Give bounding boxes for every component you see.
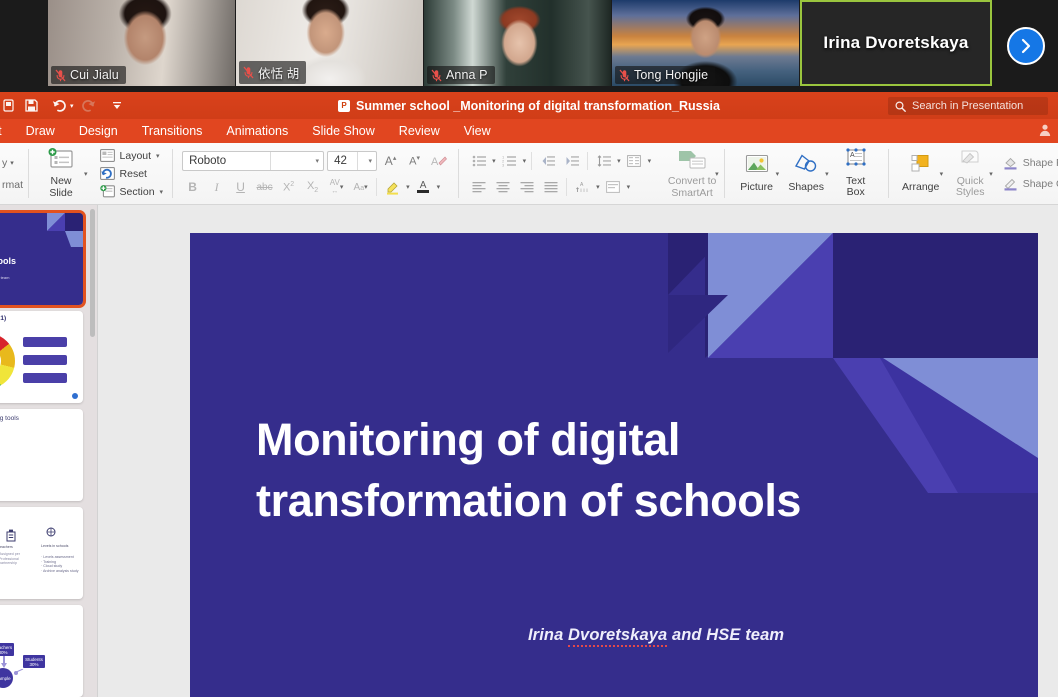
picture-label: Picture (740, 182, 773, 194)
shape-outline-label: Shape Outline (1023, 178, 1058, 190)
pane-divider[interactable] (97, 205, 98, 697)
thumb5-circle-sample: Sample (0, 668, 13, 688)
thumb4-icon-right (45, 527, 57, 540)
format-painter-button[interactable]: rmat (2, 179, 23, 191)
chevron-right-icon (1019, 38, 1033, 54)
subtitle-prefix: Irina (528, 626, 568, 644)
align-center-icon (496, 181, 510, 193)
shape-format-stack: Shape Fill ▾ Shape Outline ▾ (999, 143, 1058, 205)
current-slide[interactable]: Monitoring of digital transformation of … (190, 233, 1038, 697)
svg-text:A: A (580, 182, 584, 188)
character-spacing-button[interactable]: AV↔ ▾ (326, 177, 347, 197)
clipboard-group: y ▾ rmat (0, 143, 23, 204)
smartart-caret-icon[interactable]: ▾ (715, 170, 719, 178)
decrease-font-size-icon: A▾ (409, 154, 420, 168)
increase-indent-icon (565, 155, 579, 167)
participant-name-badge: 依恬 胡 (239, 61, 306, 84)
redo-icon (81, 99, 96, 112)
increase-font-size-button[interactable]: A▴ (380, 151, 401, 171)
insert-group: Picture ▾ Shapes ▾ (730, 143, 883, 204)
slide-thumbnail-3[interactable]: monitoring tools (0, 409, 83, 501)
line-spacing-caret-icon[interactable]: ▾ (617, 157, 621, 165)
copy-button[interactable]: y ▾ (2, 157, 14, 169)
decrease-font-size-button[interactable]: A▾ (404, 151, 425, 171)
tab-transitions[interactable]: Transitions (130, 119, 215, 143)
document-title-text: Summer school _Monitoring of digital tra… (356, 99, 720, 113)
text-direction-button[interactable]: A (572, 177, 593, 197)
new-slide-label-2: Slide (49, 188, 72, 200)
text-box-label-2: Box (847, 187, 865, 199)
autosave-icon[interactable] (0, 94, 16, 118)
svg-text:A: A (850, 152, 855, 159)
muted-microphone-icon (619, 69, 630, 82)
tab-design[interactable]: Design (67, 119, 130, 143)
powerpoint-window: ▾ P Summer school _Monitoring of digi (0, 92, 1058, 697)
shape-fill-label: Shape Fill (1023, 157, 1058, 169)
font-size-value: 42 (334, 155, 347, 167)
picture-icon (744, 154, 770, 179)
thumb2-bar-1 (23, 337, 67, 347)
quick-styles-label-2: Styles (956, 187, 985, 199)
tab-slide-show[interactable]: Slide Show (300, 119, 387, 143)
undo-button[interactable] (46, 94, 72, 118)
slide-thumbnail-pane[interactable]: digital n of schools voretskaya and HSE … (0, 205, 97, 697)
ribbon-separator (888, 149, 889, 198)
video-tile-active-speaker[interactable]: Irina Dvoretskaya (800, 0, 992, 86)
decrease-indent-button[interactable] (537, 151, 558, 171)
copy-caret-icon: ▾ (10, 159, 14, 167)
font-size-combo[interactable]: 42 ▾ (327, 151, 377, 171)
section-caret-icon: ▾ (160, 188, 164, 196)
thumb4-bullets: · Levels assessment· Training· Cloud stu… (41, 555, 79, 573)
video-tile-participant-2[interactable]: 依恬 胡 (236, 0, 423, 86)
thumbnail-title: digital n of schools (0, 245, 16, 266)
font-color-icon: A (417, 181, 429, 193)
arrange-icon (908, 154, 934, 179)
decrease-indent-icon (541, 155, 555, 167)
customize-quick-access-button[interactable] (104, 94, 130, 118)
thumbnail-pane-scrollbar[interactable] (90, 209, 95, 337)
paragraph-group: ▾ 1 2 3 ▾ (464, 143, 655, 205)
justify-icon (544, 181, 558, 193)
search-placeholder: Search in Presentation (912, 100, 1023, 112)
strikethrough-icon: abc (257, 182, 273, 193)
drawing-group: Arrange ▾ Quick Styles ▾ (894, 143, 1058, 204)
columns-icon (627, 155, 641, 167)
strikethrough-button[interactable]: abc (254, 177, 275, 197)
video-tile-participant-4[interactable]: Tong Hongjie (612, 0, 799, 86)
font-size-caret-icon: ▾ (365, 157, 373, 165)
text-highlight-button[interactable] (382, 177, 403, 197)
title-bar: ▾ P Summer school _Monitoring of digi (0, 92, 1058, 119)
convert-to-smartart-icon (677, 148, 707, 174)
align-right-button[interactable] (516, 177, 537, 197)
change-case-caret-icon: ▾ (364, 183, 368, 191)
thumb5-box-teachers: Teachers30% (0, 643, 14, 656)
participant-name-badge: Cui Jialu (51, 66, 126, 84)
tab-animations[interactable]: Animations (214, 119, 300, 143)
shape-fill-button[interactable]: Shape Fill ▾ (1003, 157, 1058, 170)
tab-draw[interactable]: Draw (14, 119, 67, 143)
text-highlight-icon (385, 180, 400, 195)
slide-title-textbox[interactable]: Monitoring of digital transformation of … (256, 409, 896, 531)
arrange-label: Arrange (902, 182, 939, 194)
powerpoint-icon: P (338, 100, 350, 112)
section-label: Section (120, 186, 155, 198)
layout-caret-icon: ▾ (156, 152, 160, 160)
video-tile-participant-1[interactable]: Cui Jialu (48, 0, 235, 86)
muted-microphone-icon (55, 69, 66, 82)
reset-label: Reset (120, 168, 147, 180)
align-left-button[interactable] (468, 177, 489, 197)
subtitle-misspelled-word: Dvoretskaya (568, 626, 667, 647)
thumb2-bar-3 (23, 373, 67, 383)
font-group: Roboto ▾ 42 ▾ A▴ A▾ A (178, 143, 453, 205)
participant-name-text: Cui Jialu (70, 68, 119, 82)
italic-button[interactable]: I (206, 177, 227, 197)
line-spacing-icon (597, 155, 611, 167)
share-button[interactable] (1038, 123, 1052, 142)
underline-button[interactable]: U (230, 177, 251, 197)
save-button[interactable] (18, 94, 44, 118)
undo-icon (52, 99, 67, 112)
superscript-icon: X2 (283, 181, 294, 194)
video-tile-participant-3[interactable]: Anna P (424, 0, 611, 86)
font-color-caret-icon[interactable]: ▾ (437, 183, 441, 191)
bullet-caret-icon[interactable]: ▾ (492, 157, 496, 165)
ribbon-separator (724, 149, 725, 198)
numbered-list-icon: 1 2 3 (502, 155, 516, 167)
thumb4-label-right: Levels in schools (41, 544, 68, 549)
thumb2-donut-chart (0, 333, 15, 389)
tab-insert[interactable]: rt (0, 119, 14, 143)
muted-microphone-icon (431, 69, 442, 82)
mobile-icon (3, 99, 14, 112)
new-slide-icon (47, 148, 75, 174)
align-right-icon (520, 181, 534, 193)
align-left-icon (472, 181, 486, 193)
ribbon-toolbar: y ▾ rmat (0, 143, 1058, 205)
layout-button[interactable]: Layout ▾ (100, 149, 164, 162)
slides-group: New Slide ▾ Layout (34, 143, 167, 204)
participant-name-text: Anna P (446, 68, 488, 82)
participant-name-text: 依恬 胡 (258, 63, 299, 82)
font-name-caret-icon: ▾ (312, 157, 320, 165)
change-case-button[interactable]: Aa ▾ (350, 177, 371, 197)
slide-subtitle-textbox[interactable]: Irina Dvoretskaya and HSE team (528, 626, 784, 645)
editor-workspace: digital n of schools voretskaya and HSE … (0, 205, 1058, 697)
quick-styles-icon (957, 148, 983, 173)
underline-icon: U (236, 180, 245, 194)
muted-microphone-icon (243, 66, 254, 79)
smartart-group: Convert to SmartArt ▾ (659, 143, 719, 204)
shapes-label: Shapes (788, 182, 824, 194)
subtitle-suffix: and HSE team (667, 626, 784, 644)
subscript-button[interactable]: X2 (302, 177, 323, 197)
thumb2-bar-2 (23, 355, 67, 365)
slide-thumbnail-4[interactable]: teachers Assigned perProfessionalpartner… (0, 507, 83, 599)
text-direction-caret-icon[interactable]: ▾ (596, 183, 600, 191)
bold-icon: B (188, 180, 197, 194)
character-spacing-caret-icon: ▾ (340, 183, 344, 191)
font-name-value: Roboto (189, 155, 226, 167)
redo-button[interactable] (76, 94, 102, 118)
font-name-combo[interactable]: Roboto ▾ (182, 151, 324, 171)
slide-thumbnail-5[interactable]: Teachers30% Students30% Sample (0, 605, 83, 697)
ribbon-separator (458, 149, 459, 198)
thumb5-arrow (1, 656, 7, 668)
ribbon-separator (172, 149, 173, 198)
character-spacing-icon: AV↔ (330, 179, 340, 196)
reset-icon (100, 167, 115, 180)
highlight-caret-icon[interactable]: ▾ (406, 183, 410, 191)
thumb5-box-students: Students30% (23, 655, 45, 668)
smartart-label-2: SmartArt (671, 188, 712, 200)
clear-formatting-button[interactable]: A (428, 151, 449, 171)
increase-indent-button[interactable] (561, 151, 582, 171)
shape-outline-icon (1003, 178, 1018, 191)
search-icon (895, 101, 906, 112)
italic-icon: I (215, 180, 219, 195)
clear-formatting-icon: A (431, 154, 447, 168)
new-slide-button[interactable]: New Slide (34, 145, 88, 203)
tab-review[interactable]: Review (387, 119, 452, 143)
numbered-list-button[interactable]: 1 2 3 (499, 151, 520, 171)
subscript-icon: X2 (307, 180, 318, 194)
strip-left-padding (0, 0, 48, 92)
font-row-top: Roboto ▾ 42 ▾ A▴ A▾ A (182, 151, 449, 171)
thumb4-label-left: teachers (0, 545, 13, 550)
align-center-button[interactable] (492, 177, 513, 197)
layout-icon (100, 149, 115, 162)
thumb2-badge (72, 393, 78, 399)
text-box-icon: A (843, 148, 869, 173)
format-painter-label: rmat (2, 179, 23, 191)
shape-fill-icon (1003, 157, 1018, 170)
justify-button[interactable] (540, 177, 561, 197)
overflow-caret-icon (112, 101, 122, 110)
quick-styles-caret-icon[interactable]: ▾ (989, 170, 993, 178)
thumbnail-subtitle: voretskaya and HSE team (0, 275, 9, 280)
tab-view[interactable]: View (452, 119, 503, 143)
slide-editing-area[interactable]: Monitoring of digital transformation of … (97, 205, 1058, 697)
search-input[interactable]: Search in Presentation (888, 97, 1048, 115)
thumb3-heading: monitoring tools (0, 415, 19, 422)
align-text-button[interactable] (603, 177, 624, 197)
text-box-button[interactable]: A Text Box (829, 145, 883, 203)
font-row-bottom: B I U abc X2 X2 AV↔ ▾ Aa ▾ (182, 177, 449, 197)
svg-text:A: A (431, 156, 439, 168)
participant-name-text: Tong Hongjie (634, 68, 708, 82)
align-text-caret-icon[interactable]: ▾ (627, 183, 631, 191)
slide-title-line-2: transformation of schools (256, 475, 801, 526)
numbering-caret-icon[interactable]: ▾ (523, 157, 527, 165)
align-text-icon (606, 181, 620, 193)
quick-access-toolbar: ▾ (0, 94, 130, 118)
reset-button[interactable]: Reset (100, 167, 164, 180)
text-direction-icon: A (576, 181, 590, 193)
new-slide-dropdown-caret[interactable]: ▾ (84, 170, 88, 178)
slide-thumbnail-2[interactable]: ng (2019-2021) (0, 311, 83, 403)
superscript-button[interactable]: X2 (278, 177, 299, 197)
thumb2-heading: ng (2019-2021) (0, 315, 6, 322)
layout-label: Layout (120, 150, 152, 162)
columns-caret-icon[interactable]: ▾ (648, 157, 652, 165)
shape-outline-button[interactable]: Shape Outline ▾ (1003, 178, 1058, 191)
paragraph-row-top: ▾ 1 2 3 ▾ (468, 151, 651, 171)
thumb4-sub-left: Assigned perProfessionalpartnership (0, 552, 20, 566)
svg-text:3: 3 (502, 162, 505, 167)
participant-name-badge: Tong Hongjie (615, 66, 715, 84)
line-spacing-button[interactable] (593, 151, 614, 171)
slide-actions-stack: Layout ▾ Reset (96, 143, 168, 205)
video-participant-strip: Cui Jialu 依恬 胡 (0, 0, 1058, 92)
font-color-button[interactable]: A (413, 177, 434, 197)
shapes-icon (793, 154, 819, 179)
ribbon-tab-bar: rt Draw Design Transitions Animations Sl… (0, 119, 1058, 143)
active-speaker-name: Irina Dvoretskaya (823, 33, 968, 53)
slide-title-line-1: Monitoring of digital (256, 414, 680, 465)
thumb-title-line2: n of schools (0, 256, 16, 266)
share-person-icon (1038, 123, 1052, 137)
section-button[interactable]: Section ▾ (100, 185, 164, 198)
section-icon (100, 185, 115, 198)
thumb4-icon-left (5, 529, 17, 542)
increase-font-size-icon: A▴ (385, 154, 397, 168)
participant-name-badge: Anna P (427, 66, 495, 84)
thumb5-connector (14, 669, 24, 677)
columns-button[interactable] (624, 151, 645, 171)
save-icon (25, 99, 38, 112)
ribbon-separator (28, 149, 29, 198)
slide-decoration (31, 213, 83, 253)
bullet-list-button[interactable] (468, 151, 489, 171)
next-participants-button[interactable] (1007, 27, 1045, 65)
slide-thumbnail-1[interactable]: digital n of schools voretskaya and HSE … (0, 213, 83, 305)
bold-button[interactable]: B (182, 177, 203, 197)
bullet-list-icon (472, 155, 486, 167)
change-case-icon: Aa (354, 182, 365, 193)
paragraph-row-bottom: A ▾ ▾ (468, 177, 651, 197)
copy-label: y (2, 157, 7, 169)
